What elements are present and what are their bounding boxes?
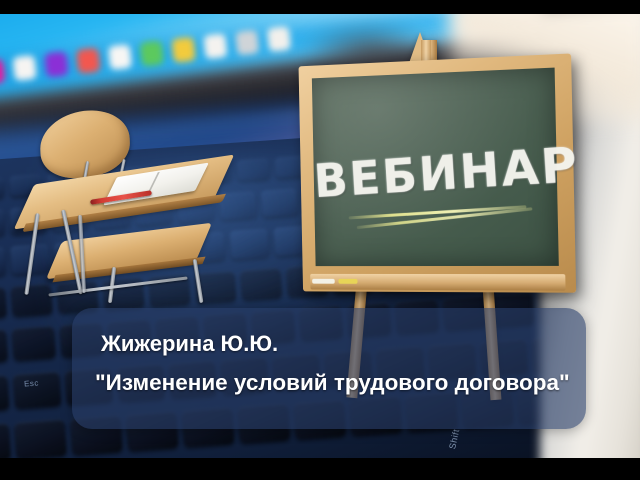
chalk-tray — [310, 274, 565, 291]
yellow-chalk-stick — [338, 279, 357, 284]
keyboard-key — [0, 247, 6, 278]
video-slide-frame: Esc Shift — [0, 0, 640, 480]
chalkboard-surface: ВЕБИНАР — [312, 68, 559, 267]
keyboard-key — [0, 329, 8, 364]
keyboard-key — [0, 287, 7, 320]
white-chalk-stick — [312, 279, 335, 284]
caption-panel: Жижерина Ю.Ю. "Изменение условий трудово… — [72, 308, 586, 429]
chalkboard-frame: ВЕБИНАР — [299, 53, 577, 292]
dock-app-icon-3 — [44, 51, 69, 77]
keyboard-key — [12, 326, 56, 361]
presentation-title: "Изменение условий трудового договора" — [95, 370, 570, 396]
dock-app-icon-1 — [0, 58, 5, 84]
letterbox-top — [0, 0, 640, 14]
dock-app-icon-9 — [235, 29, 260, 55]
keyboard-key — [14, 419, 66, 458]
dock-app-icon-5 — [108, 44, 133, 70]
dock-app-icon-8 — [203, 33, 228, 59]
esc-key-label: Esc — [24, 378, 39, 388]
slide-photo: Esc Shift — [0, 14, 640, 458]
keyboard-key — [0, 177, 4, 199]
keyboard-key — [0, 423, 11, 458]
chair-leg-right — [193, 259, 204, 303]
dock-app-icon-7 — [171, 37, 196, 63]
dock-app-icon-4 — [76, 48, 101, 74]
keyboard-key — [0, 375, 9, 412]
keyboard-key — [13, 372, 61, 409]
presenter-name: Жижерина Ю.Ю. — [101, 331, 278, 357]
miniature-school-desk — [18, 109, 248, 299]
keyboard-key — [0, 209, 5, 237]
dock-app-icon-2 — [12, 55, 37, 81]
dock-app-icon-10 — [267, 26, 292, 52]
letterbox-bottom — [0, 458, 640, 480]
dock-app-icon-6 — [140, 40, 165, 66]
